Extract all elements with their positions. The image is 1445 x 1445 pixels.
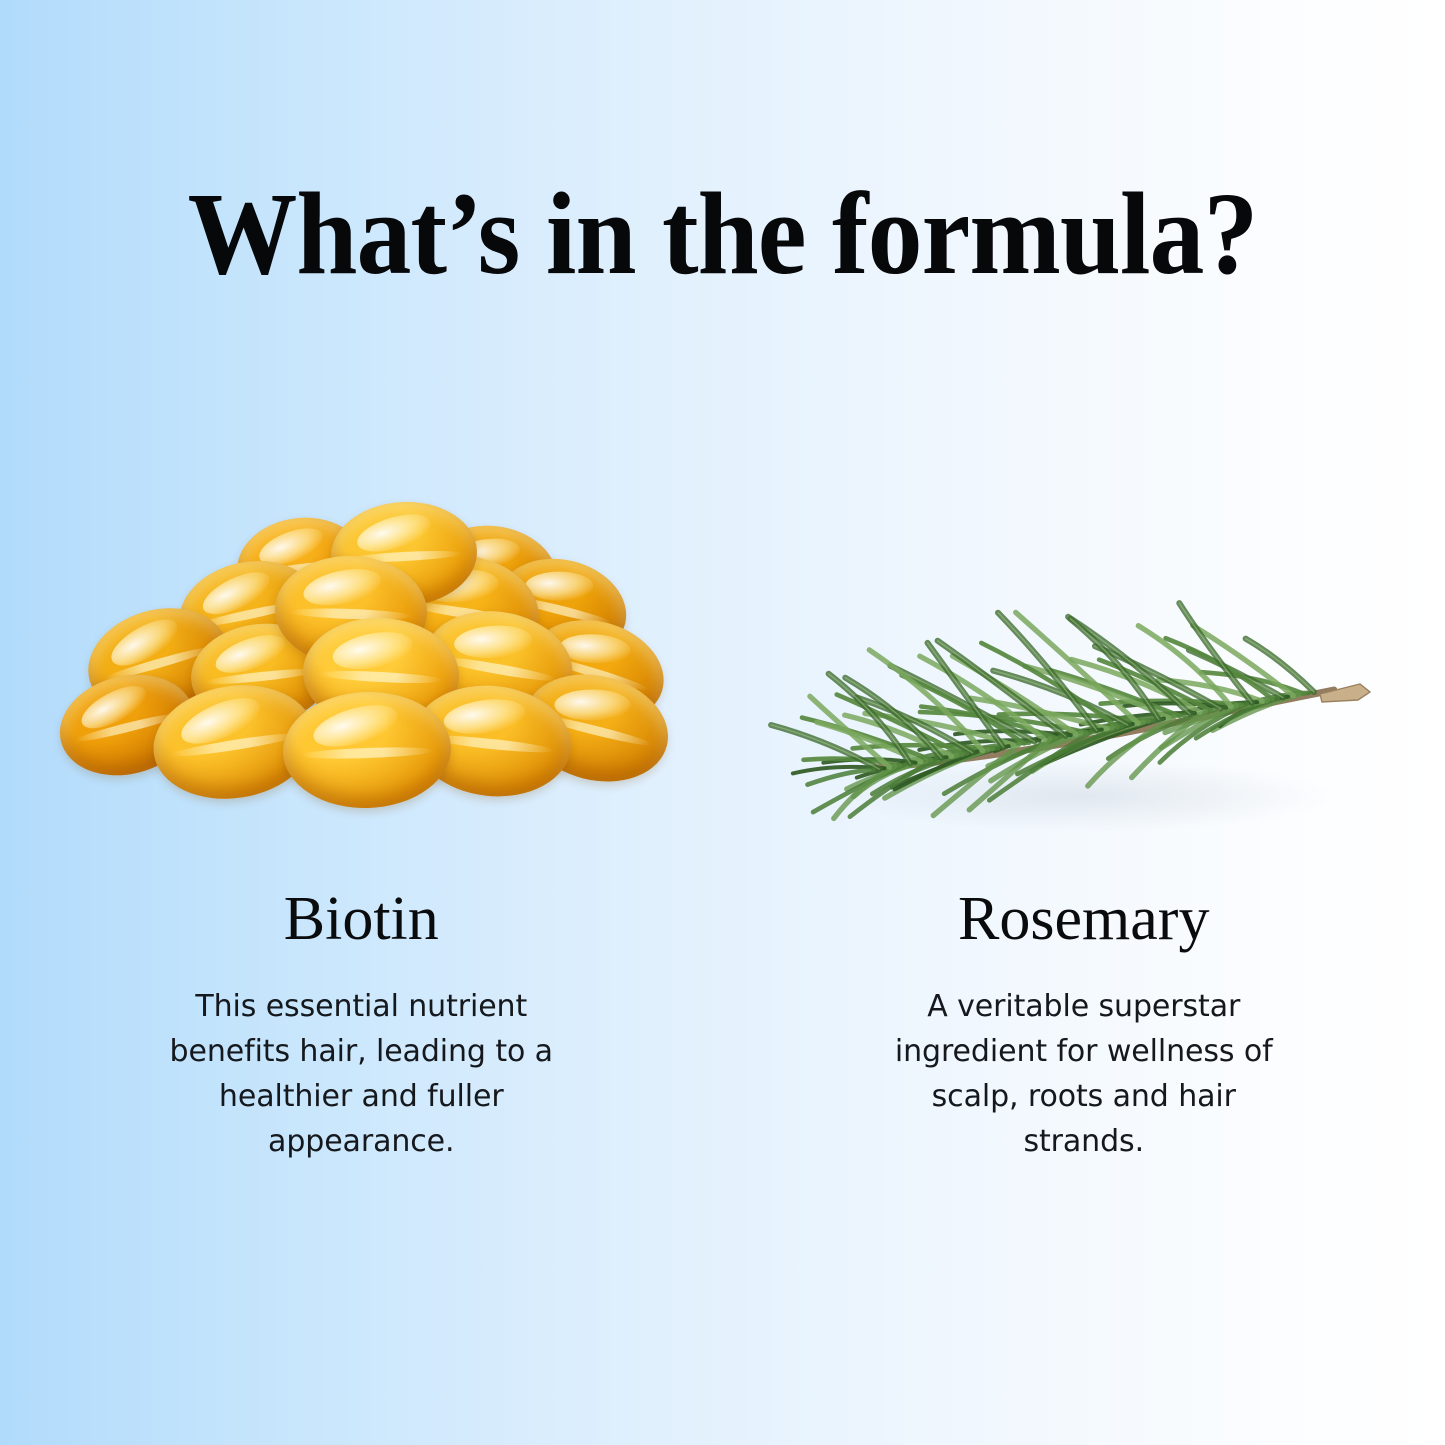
rosemary-sprig-svg	[754, 500, 1414, 860]
capsule-highlight	[555, 689, 631, 720]
ingredients-poster: What’s in the formula? Pile of golden am…	[0, 0, 1445, 1445]
rosemary-stem-tip	[1320, 684, 1370, 702]
ingredient-card-rosemary: Fresh green rosemary sprig lying on its …	[723, 500, 1445, 1164]
biotin-capsules-image: Pile of golden amber oval softgel capsul…	[31, 500, 691, 860]
capsule-pile	[31, 500, 691, 860]
ingredient-card-biotin: Pile of golden amber oval softgel capsul…	[0, 500, 723, 1164]
rosemary-sprig-image: Fresh green rosemary sprig lying on its …	[754, 500, 1414, 860]
ingredient-description-biotin: This essential nutrient benefits hair, l…	[146, 984, 576, 1164]
sprig-shadow	[834, 760, 1334, 832]
ingredient-name-biotin: Biotin	[284, 888, 439, 950]
ingredient-name-rosemary: Rosemary	[958, 888, 1209, 950]
ingredient-description-rosemary: A veritable superstar ingredient for wel…	[869, 984, 1299, 1164]
page-title: What’s in the formula?	[51, 175, 1395, 293]
ingredient-columns: Pile of golden amber oval softgel capsul…	[0, 500, 1445, 1164]
